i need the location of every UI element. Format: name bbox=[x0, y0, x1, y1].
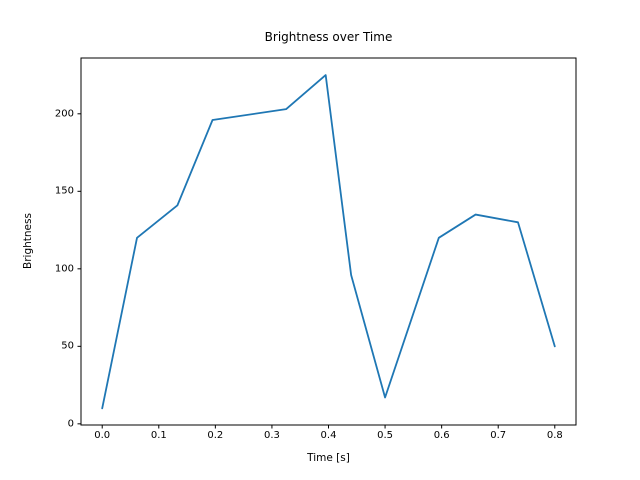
y-axis-label: Brightness bbox=[22, 121, 34, 361]
x-tick-label: 0.4 bbox=[321, 430, 337, 441]
y-tick-label: 150 bbox=[55, 186, 74, 197]
x-tick-label: 0.1 bbox=[151, 430, 167, 441]
x-tick-label: 0.8 bbox=[547, 430, 563, 441]
plot-area bbox=[0, 0, 640, 480]
matplotlib-figure: Brightness over Time 0.00.10.20.30.40.50… bbox=[0, 0, 640, 480]
y-tick-label: 100 bbox=[55, 263, 74, 274]
x-tick-label: 0.7 bbox=[490, 430, 506, 441]
x-tick-label: 0.0 bbox=[94, 430, 110, 441]
x-tick-label: 0.3 bbox=[264, 430, 280, 441]
y-tick-label: 200 bbox=[55, 108, 74, 119]
x-tick-label: 0.2 bbox=[207, 430, 223, 441]
y-tick-label: 50 bbox=[61, 341, 74, 352]
axes-background bbox=[81, 58, 576, 425]
x-tick-label: 0.6 bbox=[434, 430, 450, 441]
y-tick-label: 0 bbox=[68, 418, 74, 429]
x-axis-label: Time [s] bbox=[81, 452, 576, 464]
x-tick-label: 0.5 bbox=[377, 430, 393, 441]
